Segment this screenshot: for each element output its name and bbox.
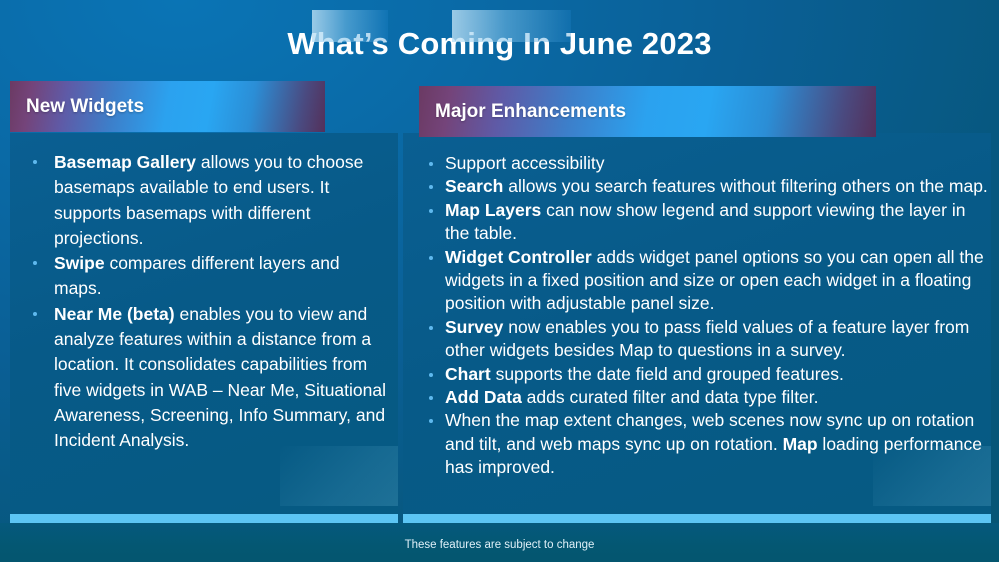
footer-note: These features are subject to change (0, 538, 999, 553)
list-item-text: adds curated filter and data type filter… (522, 387, 819, 407)
banner-ghost-right (452, 10, 571, 42)
list-item: Basemap Gallery allows you to choose bas… (22, 150, 390, 251)
list-item-text: enables you to view and analyze features… (54, 304, 386, 450)
slide-root: What’s Coming In June 2023 New Widgets M… (0, 0, 999, 562)
list-item-term: Swipe (54, 253, 105, 273)
list-item: Support accessibility (413, 152, 988, 175)
section-heading-label: New Widgets (10, 96, 144, 118)
list-item: Map Layers can now show legend and suppo… (413, 199, 988, 246)
banner-ghost-left (312, 10, 388, 42)
list-item-text: supports the date field and grouped feat… (491, 364, 844, 384)
list-item: Near Me (beta) enables you to view and a… (22, 302, 390, 454)
list-item-text: allows you search features without filte… (503, 176, 987, 196)
list-item: Widget Controller adds widget panel opti… (413, 246, 988, 316)
list-item-term: Map (783, 434, 818, 454)
section-header-major-enhancements: Major Enhancements (419, 86, 876, 137)
list-item: Add Data adds curated filter and data ty… (413, 386, 988, 409)
list-item-term: Basemap Gallery (54, 152, 196, 172)
accent-bar-right (403, 514, 991, 523)
list-item-term: Survey (445, 317, 503, 337)
banner-left: New Widgets (10, 81, 325, 132)
list-item-text: now enables you to pass field values of … (445, 317, 969, 360)
list-item-term: Map Layers (445, 200, 541, 220)
list-item-term: Near Me (beta) (54, 304, 175, 324)
section-heading-label: Major Enhancements (419, 101, 626, 123)
panel-glow-left (280, 446, 398, 506)
section-header-new-widgets: New Widgets (10, 81, 325, 132)
banner-right: Major Enhancements (419, 86, 876, 137)
list-item-text: Support accessibility (445, 153, 605, 173)
list-item-term: Search (445, 176, 503, 196)
list-item: Swipe compares different layers and maps… (22, 251, 390, 302)
list-item-term: Chart (445, 364, 491, 384)
bullet-list-new-widgets: Basemap Gallery allows you to choose bas… (22, 150, 390, 454)
list-item: Survey now enables you to pass field val… (413, 316, 988, 363)
bullet-list-major-enhancements: Support accessibilitySearch allows you s… (413, 152, 988, 480)
list-item: Search allows you search features withou… (413, 175, 988, 198)
list-item-term: Widget Controller (445, 247, 592, 267)
list-item: When the map extent changes, web scenes … (413, 409, 988, 479)
accent-bar-left (10, 514, 398, 523)
list-item: Chart supports the date field and groupe… (413, 363, 988, 386)
list-item-term: Add Data (445, 387, 522, 407)
